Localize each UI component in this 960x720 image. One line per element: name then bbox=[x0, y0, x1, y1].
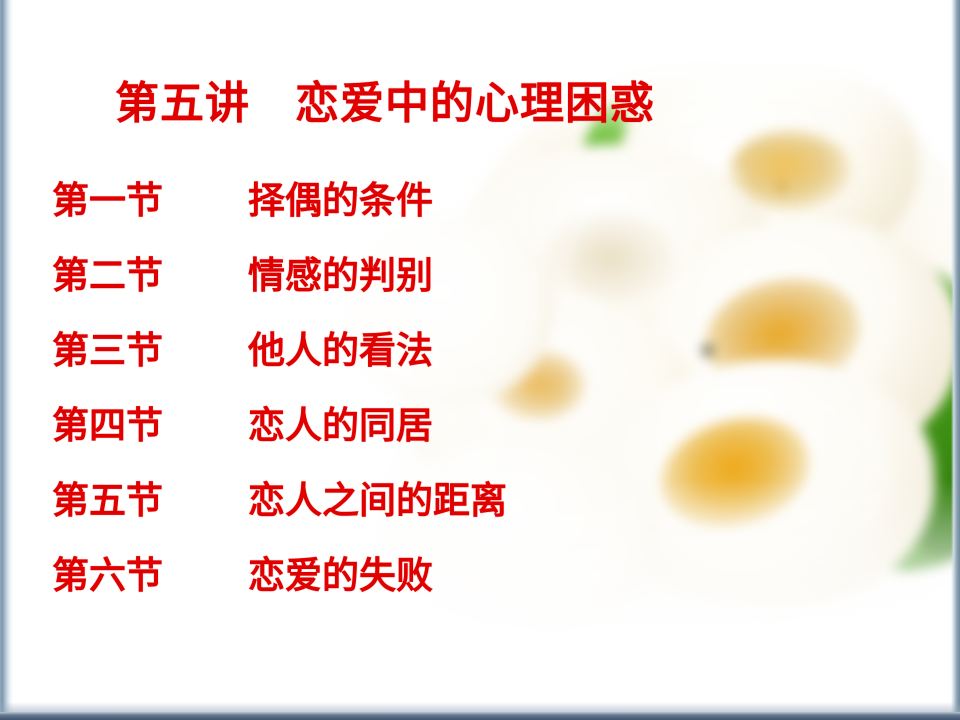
toc-item-label: 第三节 bbox=[52, 332, 248, 369]
toc-item-6[interactable]: 第六节 恋爱的失败 bbox=[52, 557, 832, 632]
toc-item-label: 第五节 bbox=[52, 482, 248, 519]
toc-item-text: 恋人的同居 bbox=[248, 407, 433, 444]
toc-item-5[interactable]: 第五节 恋人之间的距离 bbox=[52, 482, 832, 557]
toc-item-label: 第一节 bbox=[52, 182, 248, 219]
toc-item-2[interactable]: 第二节 情感的判别 bbox=[52, 257, 832, 332]
toc-item-text: 恋人之间的距离 bbox=[248, 482, 507, 519]
toc-item-text: 恋爱的失败 bbox=[248, 557, 433, 594]
toc-item-text: 他人的看法 bbox=[248, 332, 433, 369]
toc-item-label: 第四节 bbox=[52, 407, 248, 444]
toc-item-text: 情感的判别 bbox=[248, 257, 433, 294]
slide-frame-bottom-band bbox=[0, 712, 960, 720]
leaf-right-edge bbox=[877, 294, 960, 565]
leaf-right-lower bbox=[821, 419, 960, 581]
slide-frame-bottom-soft bbox=[0, 702, 960, 712]
toc-item-text: 择偶的条件 bbox=[248, 182, 433, 219]
leaf-right-upper bbox=[810, 239, 960, 471]
toc-item-3[interactable]: 第三节 他人的看法 bbox=[52, 332, 832, 407]
slide-title: 第五讲 恋爱中的心理困惑 bbox=[0, 78, 960, 130]
toc-item-label: 第六节 bbox=[52, 557, 248, 594]
presentation-slide: 第五讲 恋爱中的心理困惑 第一节 择偶的条件 第二节 情感的判别 第三节 他人的… bbox=[0, 0, 960, 720]
table-of-contents: 第一节 择偶的条件 第二节 情感的判别 第三节 他人的看法 第四节 恋人的同居 … bbox=[52, 182, 832, 632]
toc-item-label: 第二节 bbox=[52, 257, 248, 294]
toc-item-1[interactable]: 第一节 择偶的条件 bbox=[52, 182, 832, 257]
toc-item-4[interactable]: 第四节 恋人的同居 bbox=[52, 407, 832, 482]
